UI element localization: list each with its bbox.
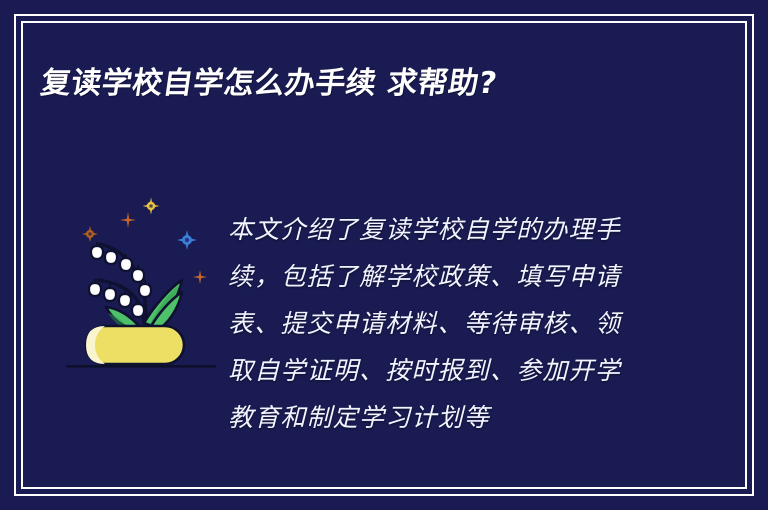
sparkle-orange-upper-icon <box>120 212 136 228</box>
sparkle-blue-icon <box>177 230 197 250</box>
plant-illustration <box>58 188 223 373</box>
sparkle-orange-left-icon <box>82 226 98 242</box>
ground-line-right <box>188 365 216 368</box>
article-cover-card: 复读学校自学怎么办手续 求帮助? <box>0 0 768 510</box>
article-summary-text: 本文介绍了复读学校自学的办理手续，包括了解学校政策、填写申请表、提交申请材料、等… <box>228 206 646 441</box>
page-title: 复读学校自学怎么办手续 求帮助? <box>38 62 714 106</box>
sparkle-orange-right-icon <box>193 270 207 284</box>
flower-pot <box>86 326 184 364</box>
sparkle-yellow-icon <box>143 198 160 215</box>
